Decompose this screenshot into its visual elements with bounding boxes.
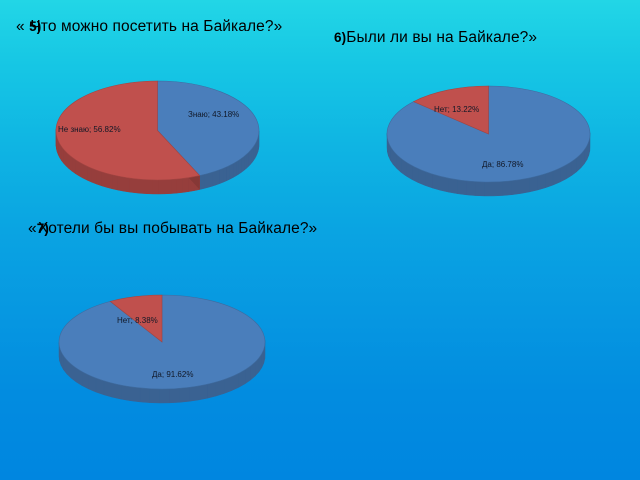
question-open-quote-7: « [28, 220, 37, 237]
pie-chart-1-graphic [55, 80, 260, 195]
pie-1-label-znayu: Знаю; 43.18% [188, 110, 239, 120]
question-heading-6: 6)Были ли вы на Байкале?» [334, 28, 537, 47]
pie-chart-3-graphic [58, 294, 266, 404]
pie-chart-2-graphic [386, 85, 591, 197]
pie-chart-1: Знаю; 43.18% Не знаю; 56.82% [55, 80, 260, 195]
pie-3-label-da: Да; 91.62% [152, 370, 193, 380]
question-text-5: Что можно посетить на Байкале?» [30, 18, 282, 35]
pie-3-label-net: Нет; 8.38% [117, 316, 158, 326]
pie-2-label-da: Да; 86.78% [482, 160, 523, 170]
question-heading-5: « 5)Что можно посетить на Байкале?» [16, 17, 282, 36]
pie-chart-3: Да; 91.62% Нет; 8.38% [58, 294, 266, 404]
question-number-6: 6) [334, 30, 346, 45]
pie-chart-2: Да; 86.78% Нет; 13.22% [386, 85, 591, 197]
pie-2-label-net: Нет; 13.22% [434, 105, 479, 115]
question-text-6: Были ли вы на Байкале?» [346, 29, 537, 46]
presentation-slide: « 5)Что можно посетить на Байкале?» 6)Бы… [0, 0, 640, 480]
pie-1-label-ne-znayu: Не знаю; 56.82% [58, 125, 121, 135]
question-open-quote-5: « [16, 18, 29, 35]
question-text-7: Хотели бы вы побывать на Байкале?» [38, 220, 317, 237]
question-heading-7: «7)Хотели бы вы побывать на Байкале?» [28, 219, 317, 238]
